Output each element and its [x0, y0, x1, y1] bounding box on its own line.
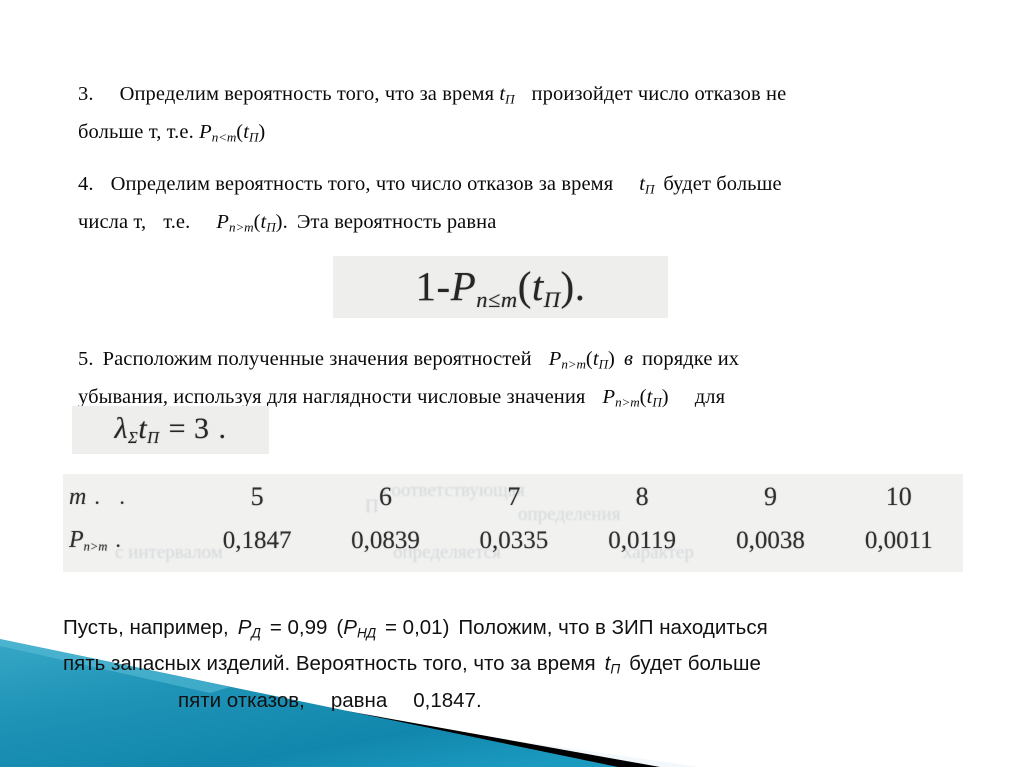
table-row-label-pnm: Pn>m.	[63, 527, 193, 555]
symbol-pd: PД	[238, 616, 261, 639]
item-4-line1-text-b: будет больше	[663, 173, 781, 195]
probability-table-image: соответствующая П определения с интервал…	[63, 474, 963, 572]
bottom-result-value: 0,1847.	[413, 689, 481, 712]
table-cell-p-4: 0,0119	[578, 527, 706, 555]
item-3-number: 3.	[78, 83, 94, 105]
bottom-line-3: пяти отказов,равна0,1847.	[63, 685, 963, 716]
bottom-text-block: Пусть, например,PД= 0,99(PНД= 0,01)Полож…	[63, 612, 963, 716]
formula-image-one-minus-p: 1-Pn≤m(tП).	[333, 256, 668, 318]
table-row-m: m. . 5 6 7 8 9 10	[63, 477, 963, 517]
item-3-line1-text-b: произойдет число отказов не	[532, 83, 787, 105]
item-4-formula-pnm: Pn>m(tП).	[216, 211, 287, 233]
formula-image-lambda-tp-equals-three: λΣtП= 3.	[72, 406, 269, 454]
item-5-line2-text-b: для	[695, 386, 725, 408]
item-3-formula-pnm: Pn<m(tП)	[199, 121, 265, 143]
table-row-probability: Pn>m. 0,1847 0,0839 0,0335 0,0119 0,0038…	[63, 521, 963, 561]
table-row-label-m: m. .	[63, 484, 193, 511]
item-5-formula-pnm-first: Pn>m(tП)	[549, 348, 615, 370]
item-5-number: 5.	[78, 348, 94, 370]
item-5-formula-pnm-second: Pn>m(tП)	[602, 386, 668, 408]
symbol-t-sub-p: tП	[605, 652, 620, 675]
item-4-line2-text-a: числа т,	[78, 211, 146, 233]
table-cell-m-6: 10	[835, 482, 963, 512]
item-5-line1-text-c: порядке их	[642, 348, 739, 370]
item-4-line2-text-c: Эта вероятность равна	[297, 211, 497, 233]
item-5-line1-text-b: в	[624, 348, 633, 370]
paragraph-item-4: 4.Определим вероятность того, что число …	[78, 168, 958, 243]
item-4-line2-text-b: т.е.	[163, 211, 190, 233]
paragraph-item-3: 3.Определим вероятность того, что за вре…	[78, 78, 958, 153]
item-5-line2-text-a: убывания, используя для наглядности числ…	[78, 386, 585, 408]
formula-lambda-content: λΣtП= 3.	[115, 412, 227, 448]
symbol-pnd: PНД	[343, 616, 376, 639]
table-cell-m-4: 8	[578, 482, 706, 512]
item-3-line2-text-a: больше т, т.е.	[78, 121, 194, 143]
table-cell-m-5: 9	[706, 482, 834, 512]
item-3-line1-text-a: Определим вероятность того, что за время	[120, 83, 495, 105]
formula-one-minus-p-content: 1-Pn≤m(tП).	[416, 262, 586, 313]
table-cell-p-5: 0,0038	[706, 527, 834, 555]
table-cell-p-3: 0,0335	[450, 527, 578, 555]
item-4-line1-text-a: Определим вероятность того, что число от…	[111, 173, 614, 195]
table-content-layer: m. . 5 6 7 8 9 10 Pn>m. 0,1847 0,0839 0,…	[63, 474, 963, 572]
slide-canvas: 3.Определим вероятность того, что за вре…	[0, 0, 1024, 767]
bottom-line-2: пять запасных изделий. Вероятность того,…	[63, 648, 963, 684]
table-cell-p-1: 0,1847	[193, 527, 321, 555]
table-cell-m-2: 6	[321, 482, 449, 512]
bottom-line-1: Пусть, например,PД= 0,99(PНД= 0,01)Полож…	[63, 612, 963, 648]
item-3-var-t: tП	[499, 83, 514, 105]
item-5-line1-text-a: Расположим полученные значения вероятнос…	[103, 348, 532, 370]
item-4-number: 4.	[78, 173, 94, 195]
table-cell-p-6: 0,0011	[835, 527, 963, 555]
table-cell-m-1: 5	[193, 482, 321, 512]
item-4-var-t: tП	[639, 173, 654, 195]
table-cell-p-2: 0,0839	[321, 527, 449, 555]
table-cell-m-3: 7	[450, 482, 578, 512]
